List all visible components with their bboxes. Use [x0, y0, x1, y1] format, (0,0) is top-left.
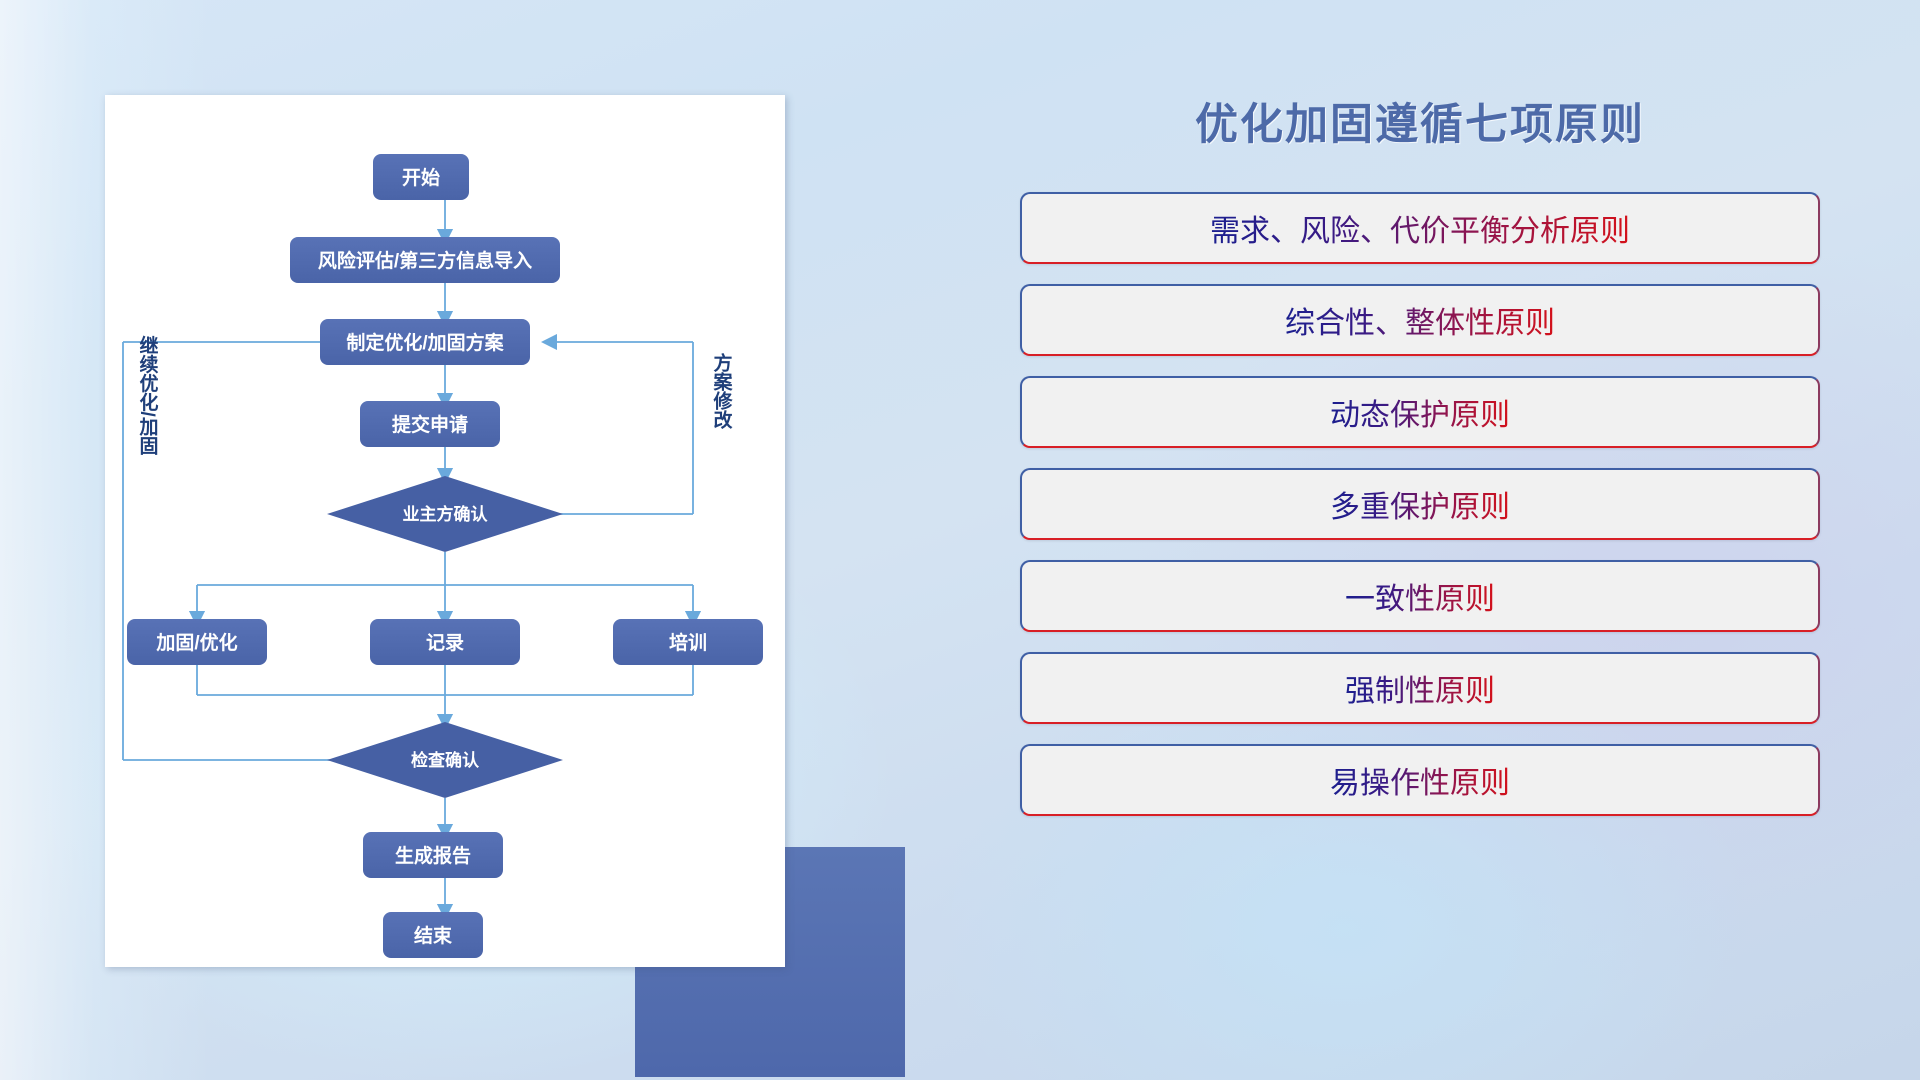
- flow-edge-label-right: 方案修改: [711, 352, 734, 430]
- principle-card[interactable]: 需求、风险、代价平衡分析原则: [1020, 192, 1820, 264]
- principle-card[interactable]: 动态保护原则: [1020, 376, 1820, 448]
- flow-node-label: 记录: [426, 632, 464, 654]
- flow-node-submit-application[interactable]: 提交申请: [360, 401, 500, 447]
- flow-node-label: 提交申请: [392, 413, 468, 436]
- flow-node-label: 风险评估/第三方信息导入: [318, 249, 532, 272]
- flowchart-svg: 开始 风险评估/第三方信息导入 制定优化/加固方案 提交申请 业主方确认: [105, 95, 785, 967]
- flow-edge-label-left: 继续优化/加固: [137, 334, 160, 455]
- principle-label: 强制性原则: [1345, 666, 1495, 710]
- principle-label: 动态保护原则: [1330, 390, 1510, 434]
- flow-node-label: 制定优化/加固方案: [346, 331, 504, 354]
- flow-node-label: 培训: [669, 631, 707, 654]
- flow-node-start[interactable]: 开始: [373, 154, 469, 200]
- principle-card[interactable]: 强制性原则: [1020, 652, 1820, 724]
- principle-card[interactable]: 综合性、整体性原则: [1020, 284, 1820, 356]
- flow-node-label: 检查确认: [411, 750, 480, 770]
- flow-node-training[interactable]: 培训: [613, 619, 763, 665]
- flow-node-generate-report[interactable]: 生成报告: [363, 832, 503, 878]
- flow-node-label: 开始: [402, 166, 440, 189]
- flow-node-reinforce-optimize[interactable]: 加固/优化: [127, 619, 267, 665]
- flow-node-label: 业主方确认: [403, 504, 489, 524]
- principle-label: 需求、风险、代价平衡分析原则: [1210, 206, 1630, 250]
- flowchart-panel: 开始 风险评估/第三方信息导入 制定优化/加固方案 提交申请 业主方确认: [105, 95, 785, 967]
- slide-canvas: 开始 风险评估/第三方信息导入 制定优化/加固方案 提交申请 业主方确认: [0, 0, 1920, 1080]
- principle-label: 多重保护原则: [1330, 482, 1510, 526]
- flow-node-owner-confirm[interactable]: 业主方确认: [327, 476, 563, 552]
- flow-connectors: [123, 200, 693, 912]
- flow-node-check-confirm[interactable]: 检查确认: [327, 722, 563, 798]
- principle-card[interactable]: 易操作性原则: [1020, 744, 1820, 816]
- principle-label: 综合性、整体性原则: [1285, 298, 1555, 342]
- flow-node-record[interactable]: 记录: [370, 619, 520, 665]
- principle-card[interactable]: 多重保护原则: [1020, 468, 1820, 540]
- flow-node-end[interactable]: 结束: [383, 912, 483, 958]
- principle-card[interactable]: 一致性原则: [1020, 560, 1820, 632]
- page-title: 优化加固遵循七项原则: [1020, 90, 1820, 152]
- flow-node-risk-assessment[interactable]: 风险评估/第三方信息导入: [290, 237, 560, 283]
- principle-label: 易操作性原则: [1330, 758, 1510, 802]
- flow-node-label: 结束: [414, 924, 453, 947]
- flow-node-make-plan[interactable]: 制定优化/加固方案: [320, 319, 530, 365]
- principles-panel: 优化加固遵循七项原则 需求、风险、代价平衡分析原则 综合性、整体性原则 动态保护…: [1020, 90, 1820, 816]
- flow-node-label: 加固/优化: [155, 631, 237, 654]
- flow-node-label: 生成报告: [395, 844, 471, 867]
- principle-label: 一致性原则: [1345, 574, 1495, 618]
- principle-list: 需求、风险、代价平衡分析原则 综合性、整体性原则 动态保护原则 多重保护原则 一…: [1020, 192, 1820, 816]
